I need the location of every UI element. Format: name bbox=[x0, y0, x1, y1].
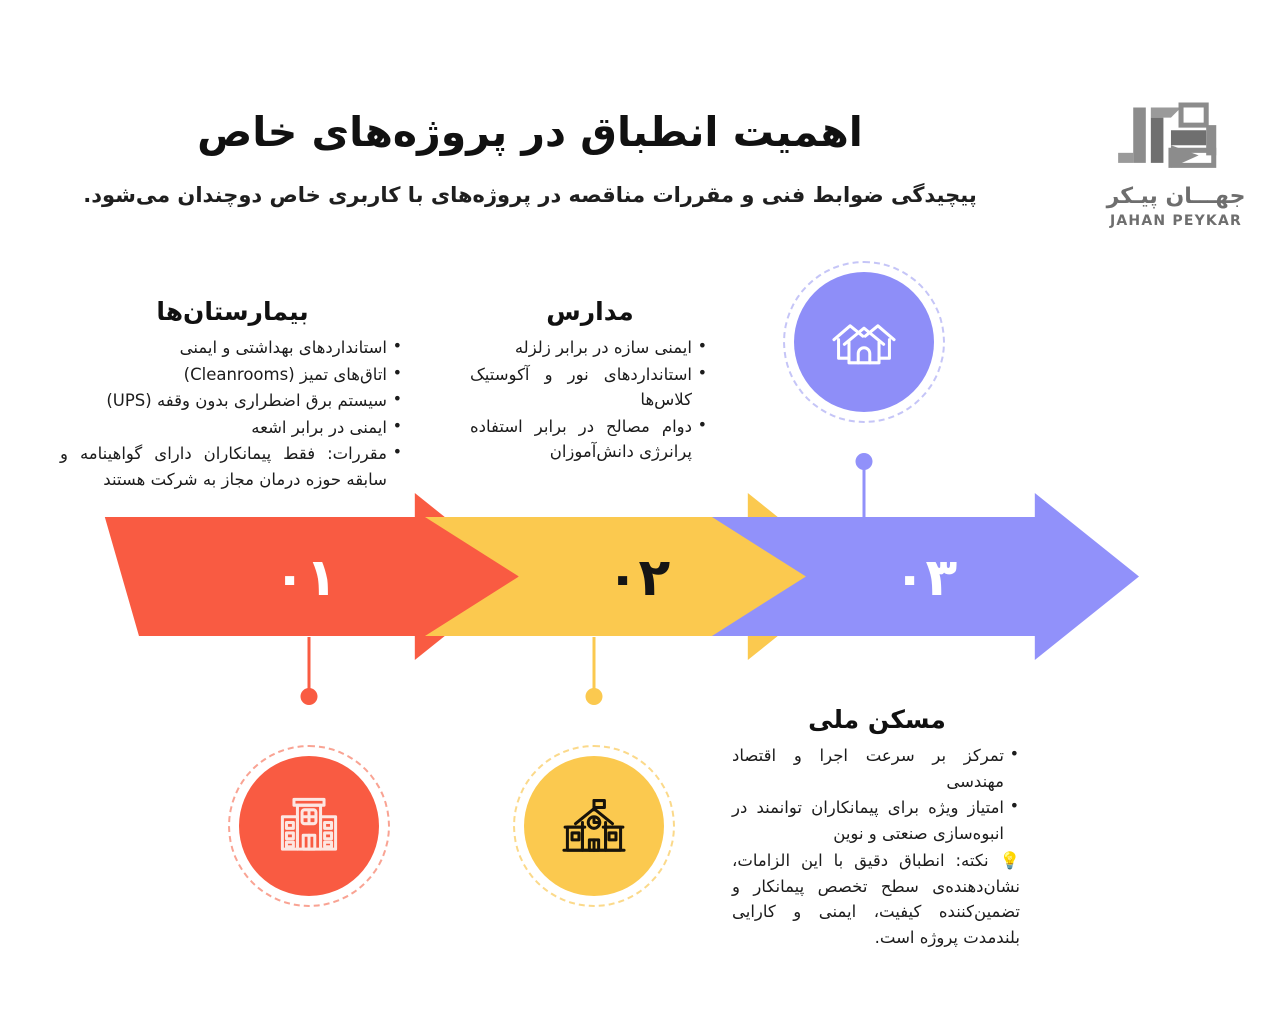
bullet-list-schools: ایمنی سازه در برابر زلزله استانداردهای ن… bbox=[470, 335, 710, 465]
bullet-list-national-housing: تمرکز بر سرعت اجرا و اقتصاد مهندسی امتیا… bbox=[732, 743, 1022, 846]
school-badge bbox=[524, 756, 664, 896]
list-item: امتیاز ویژه برای پیمانکاران توانمند در ا… bbox=[732, 795, 1004, 846]
logo-name-fa: جهـــان پیـکر bbox=[1092, 184, 1260, 209]
list-item: استانداردهای نور و آکوستیک کلاس‌ها bbox=[470, 362, 692, 413]
school-icon bbox=[557, 789, 631, 863]
step-number-2: ۰۲ bbox=[607, 552, 670, 604]
hospital-badge bbox=[239, 756, 379, 896]
connector-dot bbox=[301, 688, 318, 705]
list-item: سیستم برق اضطراری بدون وقفه (UPS) bbox=[60, 388, 387, 414]
list-item: مقررات: فقط پیمانکاران دارای گواهینامه و… bbox=[60, 441, 387, 492]
list-item: اتاق‌های تمیز (Cleanrooms) bbox=[60, 362, 387, 388]
connector-dot bbox=[856, 453, 873, 470]
houses-icon bbox=[827, 305, 901, 379]
step-number-3: ۰۳ bbox=[894, 552, 957, 604]
connector-stem bbox=[863, 469, 866, 525]
column-heading-schools: مدارس bbox=[470, 297, 710, 327]
column-heading-hospitals: بیمارستان‌ها bbox=[60, 297, 405, 327]
note-text: 💡 نکته: انطباق دقیق با این الزامات، نشان… bbox=[732, 848, 1022, 950]
connector-line-3 bbox=[855, 453, 873, 525]
jahan-peykar-monogram-icon bbox=[1092, 100, 1260, 178]
connector-dot bbox=[586, 688, 603, 705]
page-title: اهمیت انطباق در پروژه‌های خاص bbox=[0, 108, 1060, 156]
list-item: استانداردهای بهداشتی و ایمنی bbox=[60, 335, 387, 361]
column-hospitals: بیمارستان‌ها استانداردهای بهداشتی و ایمن… bbox=[60, 297, 405, 493]
connector-line-2 bbox=[585, 637, 603, 709]
hospital-icon bbox=[272, 789, 346, 863]
brand-logo: جهـــان پیـکر JAHAN PEYKAR bbox=[1092, 100, 1260, 229]
page-subtitle: پیچیدگی ضوابط فنی و مقررات مناقصه در پرو… bbox=[0, 183, 1060, 207]
column-schools: مدارس ایمنی سازه در برابر زلزله استاندار… bbox=[470, 297, 710, 466]
houses-badge bbox=[794, 272, 934, 412]
list-item: تمرکز بر سرعت اجرا و اقتصاد مهندسی bbox=[732, 743, 1004, 794]
connector-stem bbox=[593, 637, 596, 689]
list-item: ایمنی در برابر اشعه bbox=[60, 415, 387, 441]
step-number-1: ۰۱ bbox=[274, 552, 337, 604]
list-item: دوام مصالح در برابر استفاده پرانرژی دانش… bbox=[470, 414, 692, 465]
connector-line-1 bbox=[300, 637, 318, 709]
list-item: ایمنی سازه در برابر زلزله bbox=[470, 335, 692, 361]
bullet-list-hospitals: استانداردهای بهداشتی و ایمنی اتاق‌های تم… bbox=[60, 335, 405, 492]
connector-stem bbox=[308, 637, 311, 689]
column-heading-national-housing: مسکن ملی bbox=[732, 705, 1022, 735]
column-national-housing: مسکن ملی تمرکز بر سرعت اجرا و اقتصاد مهن… bbox=[732, 705, 1022, 951]
logo-name-en: JAHAN PEYKAR bbox=[1092, 213, 1260, 229]
